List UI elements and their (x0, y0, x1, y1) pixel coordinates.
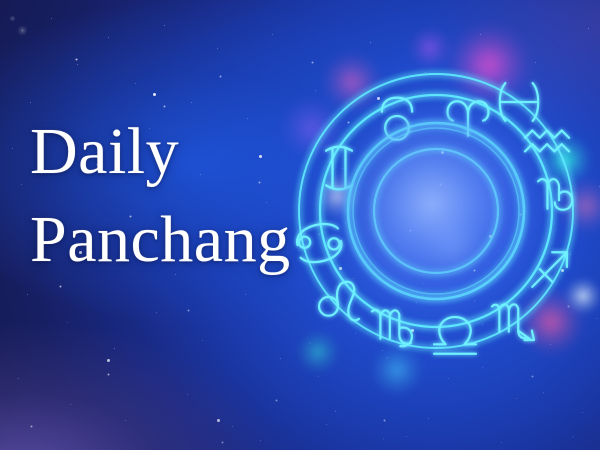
stars-large (22, 30, 23, 31)
stars-small (4, 6, 5, 7)
zodiac-glyph-capricorn (538, 179, 572, 210)
bokeh-magenta-top-far (410, 28, 450, 68)
banner-title: Daily Panchang (30, 108, 370, 284)
stars-medium (12, 18, 13, 19)
bokeh-teal-bottom-left (298, 332, 338, 372)
zodiac-glyph-sagittarius (532, 252, 567, 287)
bokeh-pink-upper-left (325, 55, 379, 109)
bokeh-cyan-bottom (373, 346, 421, 394)
zodiac-glyph-aquarius (525, 130, 569, 151)
zodiac-glyph-aries (447, 101, 488, 136)
bokeh-pink-right-mid (561, 181, 600, 231)
bokeh-teal-right (543, 137, 589, 183)
wheel-ring-core (374, 149, 498, 273)
title-line-1: Daily (30, 108, 370, 196)
bokeh-pink-lower-right (521, 292, 581, 352)
zodiac-glyph-libra (434, 317, 476, 354)
zodiac-glyph-virgo (372, 310, 412, 346)
wheel-ring-third-inner (353, 128, 519, 294)
wheel-core-disc (374, 149, 498, 273)
zodiac-glyph-pisces (500, 83, 538, 121)
daily-panchang-banner: Daily Panchang (0, 0, 600, 450)
zodiac-glyph-scorpio (492, 304, 534, 340)
bokeh-magenta-top (452, 28, 526, 102)
zodiac-glyph-leo (319, 282, 359, 321)
wheel-ring-third (348, 123, 524, 299)
zodiac-glyph-taurus (382, 98, 412, 140)
title-line-2: Panchang (30, 196, 370, 284)
bokeh-white-lower-right (566, 279, 600, 313)
bokeh-blue-core-flare (424, 216, 480, 272)
